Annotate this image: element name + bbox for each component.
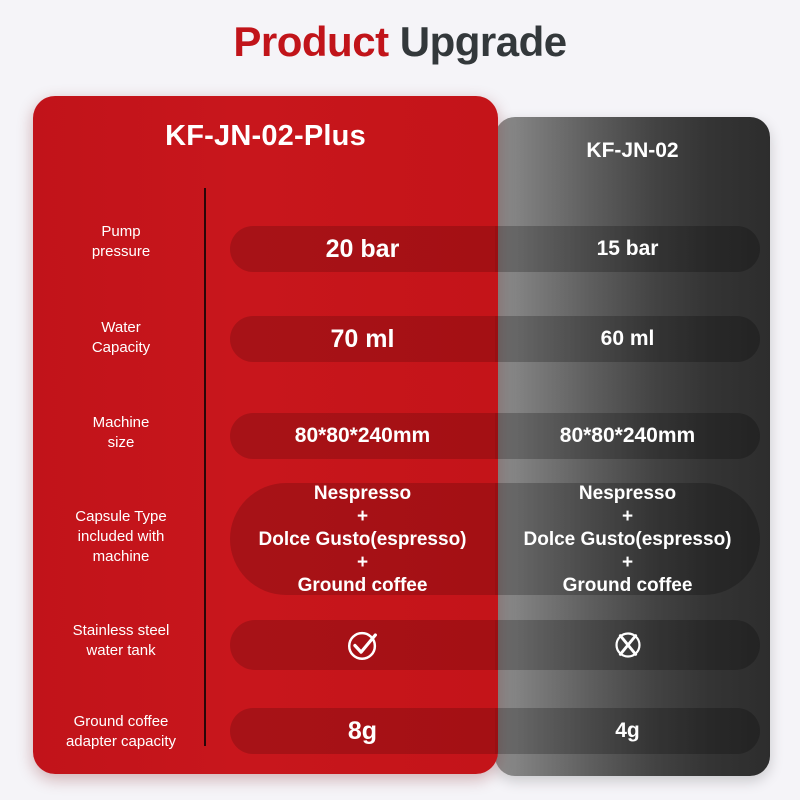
spec-label-water-capacity: Water Capacity [40,318,202,358]
spec-values-ground-adapter: 8g 4g [230,708,760,754]
spec-value-old-pump-pressure: 15 bar [495,226,760,272]
column-divider [204,188,206,746]
spec-label-stainless-tank: Stainless steel water tank [40,621,202,661]
spec-value-old-ground-adapter: 4g [495,708,760,754]
spec-label-ground-adapter: Ground coffee adapter capacity [40,712,202,752]
page-title: Product Upgrade [0,18,800,66]
spec-values-pump-pressure: 20 bar 15 bar [230,226,760,272]
spec-label-pump-pressure: Pump pressure [40,222,202,262]
spec-value-new-machine-size: 80*80*240mm [230,413,495,459]
spec-value-new-stainless-tank [230,620,495,670]
check-circle-icon [344,620,382,670]
product-name-old: KF-JN-02 [495,139,770,163]
spec-value-old-water-capacity: 60 ml [495,316,760,362]
spec-values-stainless-tank [230,620,760,670]
spec-value-new-water-capacity: 70 ml [230,316,495,362]
spec-values-machine-size: 80*80*240mm 80*80*240mm [230,413,760,459]
spec-value-old-stainless-tank [495,620,760,670]
spec-value-old-machine-size: 80*80*240mm [495,413,760,459]
spec-value-new-capsule-type: Nespresso + Dolce Gusto(espresso) + Grou… [230,483,495,595]
product-name-new: KF-JN-02-Plus [33,120,498,153]
spec-label-capsule-type: Capsule Type included with machine [40,507,202,567]
spec-value-new-ground-adapter: 8g [230,708,495,754]
spec-value-old-capsule-type: Nespresso + Dolce Gusto(espresso) + Grou… [495,483,760,595]
page-title-highlight: Product [233,18,388,65]
spec-values-capsule-type: Nespresso + Dolce Gusto(espresso) + Grou… [230,483,760,595]
spec-label-machine-size: Machine size [40,413,202,453]
spec-value-new-pump-pressure: 20 bar [230,226,495,272]
spec-values-water-capacity: 70 ml 60 ml [230,316,760,362]
cross-circle-icon [611,620,645,670]
page-title-rest: Upgrade [400,18,567,65]
